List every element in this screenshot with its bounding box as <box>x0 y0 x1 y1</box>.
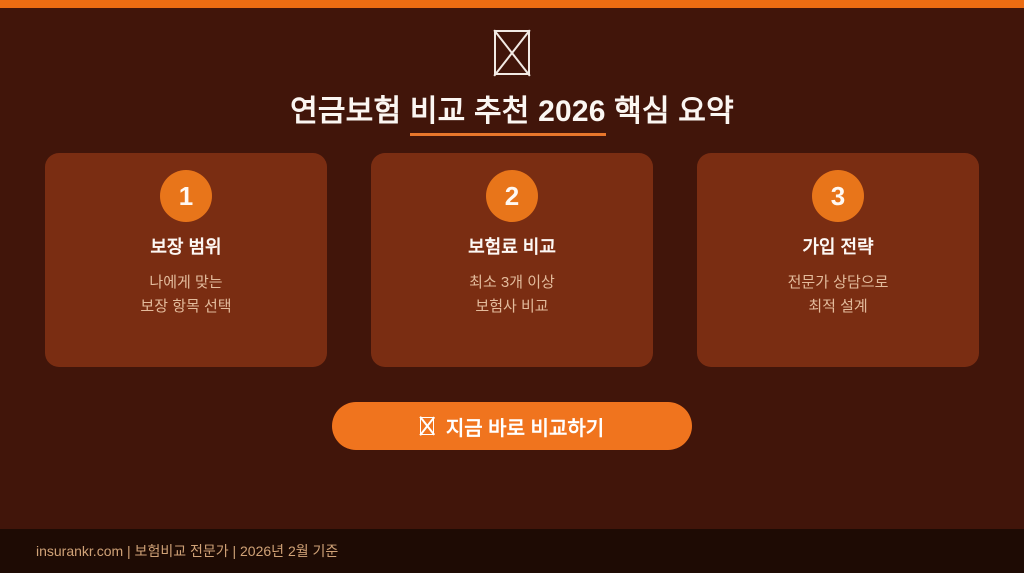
step-card-description: 전문가 상담으로 최적 설계 <box>697 271 979 320</box>
step-card[interactable]: 3 가입 전략 전문가 상담으로 최적 설계 <box>697 153 979 367</box>
compare-now-button[interactable]: 지금 바로 비교하기 <box>332 402 692 450</box>
compare-now-button-label: 지금 바로 비교하기 <box>446 412 604 441</box>
page-title-tail: 핵심 요약 <box>614 95 734 128</box>
step-card[interactable]: 2 보험료 비교 최소 3개 이상 보험사 비교 <box>371 153 653 367</box>
step-card-description-line: 전문가 상담으로 <box>697 271 979 295</box>
missing-glyph-box-icon <box>420 417 434 435</box>
footer: insurankr.com | 보험비교 전문가 | 2026년 2월 기준 <box>0 529 1024 573</box>
step-card[interactable]: 1 보장 범위 나에게 맞는 보장 항목 선택 <box>45 153 327 367</box>
step-card-description-line: 최소 3개 이상 <box>371 271 653 295</box>
step-card-description-line: 보장 항목 선택 <box>45 295 327 319</box>
step-number-badge: 1 <box>160 170 212 222</box>
page-title-lead: 연금보험 <box>290 95 401 128</box>
step-card-title: 보장 범위 <box>45 237 327 259</box>
page-title-highlight: 비교 추천 2026 <box>410 94 606 132</box>
header: 연금보험 비교 추천 2026 핵심 요약 <box>0 30 1024 132</box>
step-card-title: 보험료 비교 <box>371 237 653 259</box>
cta-container: 지금 바로 비교하기 <box>0 402 1024 450</box>
step-card-description-line: 나에게 맞는 <box>45 271 327 295</box>
infographic-page: 연금보험 비교 추천 2026 핵심 요약 1 보장 범위 나에게 맞는 보장 … <box>0 0 1024 573</box>
top-accent-bar <box>0 0 1024 8</box>
footer-text: insurankr.com | 보험비교 전문가 | 2026년 2월 기준 <box>36 529 338 573</box>
step-card-title: 가입 전략 <box>697 237 979 259</box>
step-number-badge: 3 <box>812 170 864 222</box>
step-number-badge: 2 <box>486 170 538 222</box>
step-card-description: 최소 3개 이상 보험사 비교 <box>371 271 653 320</box>
step-card-description-line: 최적 설계 <box>697 295 979 319</box>
step-card-description-line: 보험사 비교 <box>371 295 653 319</box>
page-title: 연금보험 비교 추천 2026 핵심 요약 <box>0 94 1024 132</box>
step-card-description: 나에게 맞는 보장 항목 선택 <box>45 271 327 320</box>
step-card-list: 1 보장 범위 나에게 맞는 보장 항목 선택 2 보험료 비교 최소 3개 이… <box>45 153 979 367</box>
missing-glyph-box-icon <box>494 30 530 75</box>
